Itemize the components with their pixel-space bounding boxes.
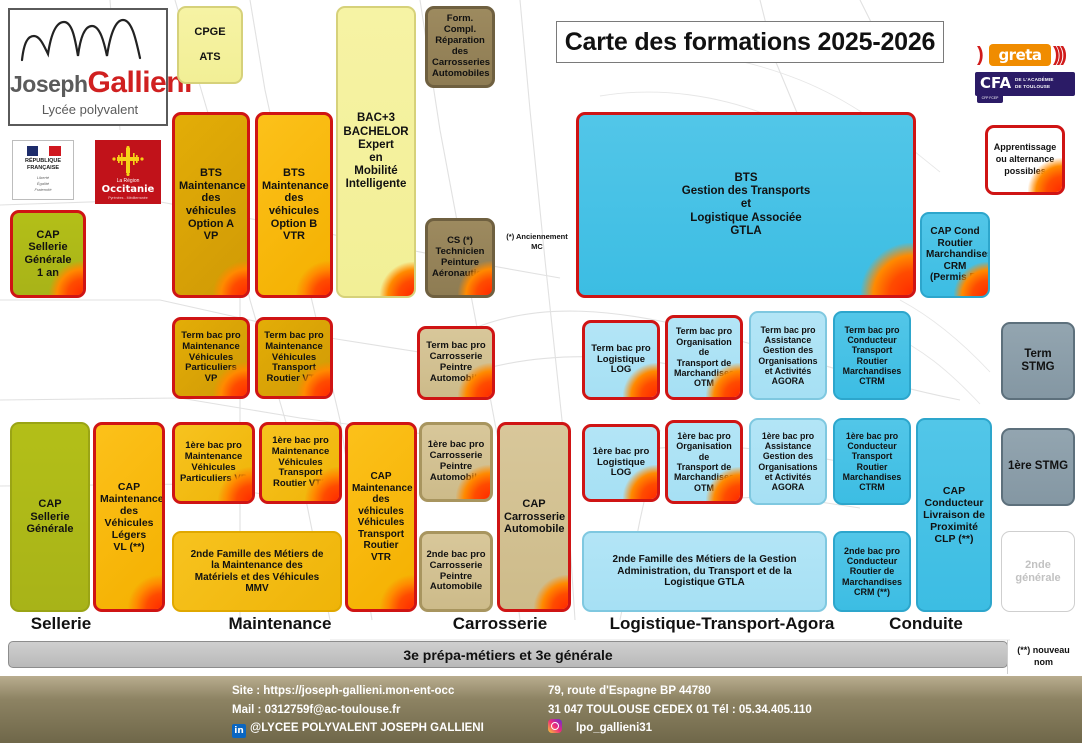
greta-label: greta [989,44,1051,66]
apprentissage-badge: Apprentissage ou alternance possibles [985,125,1065,195]
box-cap-sellerie-1an[interactable]: CAP Sellerie Générale 1 an [10,210,86,298]
page-title: Carte des formations 2025-2026 [556,21,944,63]
box-cap-maintenance-vl[interactable]: CAP Maintenance des Véhicules Légers VL … [93,422,165,612]
note-anciennement: (*) Anciennement MC [497,232,577,252]
section-label-maintenance: Maintenance [150,614,410,634]
occitanie-main: Occitanie [95,184,161,195]
mountain-peaks-icon [18,16,162,68]
footer-instagram: lpo_gallieni31 [576,722,652,734]
box-cap-maintenance-vtr[interactable]: CAP Maintenance des véhicules Véhicules … [345,422,417,612]
greta-right-paren: ))) [1053,44,1064,66]
footer-address1: 79, route d'Espagne BP 44780 [548,682,812,701]
greta-left-paren: ) [977,44,984,66]
box-cpge-ats[interactable]: CPGE ATS [177,6,243,84]
footer-linkedin: @LYCEE POLYVALENT JOSEPH GALLIENI [250,722,484,734]
box-1ere-maintenance-vp[interactable]: 1ère bac pro Maintenance Véhicules Parti… [172,422,255,504]
box-cap-sellerie-generale[interactable]: CAP Sellerie Générale [10,422,90,612]
cfa-tail: CFP FCEP [977,96,1003,103]
box-bts-maintenance-b[interactable]: BTS Maintenance des véhicules Option B V… [255,112,333,298]
box-bac3-bachelor[interactable]: BAC+3 BACHELOR Expert en Mobilité Intell… [336,6,416,298]
box-term-maintenance-vp[interactable]: Term bac pro Maintenance Véhicules Parti… [172,317,250,399]
box-2nde-crm[interactable]: 2nde bac pro Conducteur Routier de March… [833,531,911,612]
french-flag-icon [27,146,61,156]
box-2nde-gtla[interactable]: 2nde Famille des Métiers de la Gestion A… [582,531,827,612]
footer-address2: 31 047 TOULOUSE CEDEX 01 Tél : 05.34.405… [548,701,812,720]
box-2nde-mmv[interactable]: 2nde Famille des Métiers de la Maintenan… [172,531,342,612]
box-term-ctrm[interactable]: Term bac pro Conducteur Transport Routie… [833,311,911,400]
cfa-sub: DE L'ACADÉMIE DE TOULOUSE [1015,77,1054,91]
section-label-carrosserie: Carrosserie [420,614,580,634]
school-name: JosephGallieni [10,66,170,100]
region-occitanie-logo: La Région Occitanie Pyrénées - Méditerra… [95,140,161,204]
box-term-maintenance-vtr[interactable]: Term bac pro Maintenance Véhicules Trans… [255,317,333,399]
box-cap-carrosserie-auto[interactable]: CAP Carrosserie Automobile [497,422,571,612]
box-form-compl-carrosseries[interactable]: Form. Compl. Réparation des Carrosseries… [425,6,495,88]
section-label-logistique: Logistique-Transport-Agora [582,614,862,634]
box-1ere-otm[interactable]: 1ère bac pro Organisation de Transport d… [665,420,743,504]
box-cap-cond-routier[interactable]: CAP Cond Routier Marchandises CRM (Permi… [920,212,990,298]
box-term-carrosserie[interactable]: Term bac pro Carrosserie Peintre Automob… [417,326,495,400]
footer-linkedin-row[interactable]: in@LYCEE POLYVALENT JOSEPH GALLIENI [232,719,484,738]
box-bts-gtla[interactable]: BTS Gestion des Transports et Logistique… [576,112,916,298]
box-term-stmg[interactable]: Term STMG [1001,322,1075,400]
school-subtitle: Lycée polyvalent [10,102,170,117]
box-2nde-carrosserie[interactable]: 2nde bac pro Carrosserie Peintre Automob… [419,531,493,612]
box-2nde-generale[interactable]: 2nde générale [1001,531,1075,612]
box-1ere-carrosserie[interactable]: 1ère bac pro Carrosserie Peintre Automob… [419,422,493,502]
box-term-otm[interactable]: Term bac pro Organisation de Transport d… [665,315,743,400]
box-1ere-logistique[interactable]: 1ère bac pro Logistique LOG [582,424,660,502]
rf-motto: Liberté Égalité Fraternité [13,175,73,193]
school-logo: JosephGallieni Lycée polyvalent [8,8,168,126]
box-1ere-agora[interactable]: 1ère bac pro Assistance Gestion des Orga… [749,418,827,505]
occitanie-cross-icon [112,146,144,176]
footer: Site : https://joseph-gallieni.mon-ent-o… [0,676,1082,743]
box-term-logistique[interactable]: Term bac pro Logistique LOG [582,320,660,400]
box-cs-peinture-aero[interactable]: CS (*) Technicien Peinture Aéronautique [425,218,495,298]
note-nouveau-nom: (**) nouveau nom [1007,640,1079,674]
box-1ere-stmg[interactable]: 1ère STMG [1001,428,1075,506]
cfa-logo: CFA DE L'ACADÉMIE DE TOULOUSE CFP FCEP [975,72,1075,96]
section-label-conduite: Conduite [860,614,992,634]
footer-instagram-row[interactable]: lpo_gallieni31 [548,719,812,738]
footer-site[interactable]: Site : https://joseph-gallieni.mon-ent-o… [232,682,484,701]
linkedin-icon: in [232,724,246,738]
formations-map: JosephGallieni Lycée polyvalent RÉPUBLIQ… [0,0,1082,743]
rf-line1: RÉPUBLIQUE [13,158,73,165]
footer-mail[interactable]: Mail : 0312759f@ac-toulouse.fr [232,701,484,720]
instagram-icon [548,719,562,733]
section-label-sellerie: Sellerie [8,614,114,634]
cfa-label: CFA [980,74,1011,92]
republique-francaise-logo: RÉPUBLIQUE FRANÇAISE Liberté Égalité Fra… [12,140,74,200]
box-1ere-maintenance-vtr[interactable]: 1ère bac pro Maintenance Véhicules Trans… [259,422,342,504]
rf-line2: FRANÇAISE [13,165,73,172]
box-term-agora[interactable]: Term bac pro Assistance Gestion des Orga… [749,311,827,400]
footer-column-right: 79, route d'Espagne BP 44780 31 047 TOUL… [548,682,812,738]
box-bts-maintenance-a[interactable]: BTS Maintenance des véhicules Option A V… [172,112,250,298]
footer-column-left: Site : https://joseph-gallieni.mon-ent-o… [232,682,484,738]
prepa-metiers-bar[interactable]: 3e prépa-métiers et 3e générale [8,641,1008,668]
occitanie-sub: Pyrénées - Méditerranée [95,196,161,200]
greta-logo: ) greta ))) [975,44,1075,66]
box-1ere-ctrm[interactable]: 1ère bac pro Conducteur Transport Routie… [833,418,911,505]
box-cap-clp[interactable]: CAP Conducteur Livraison de Proximité CL… [916,418,992,612]
